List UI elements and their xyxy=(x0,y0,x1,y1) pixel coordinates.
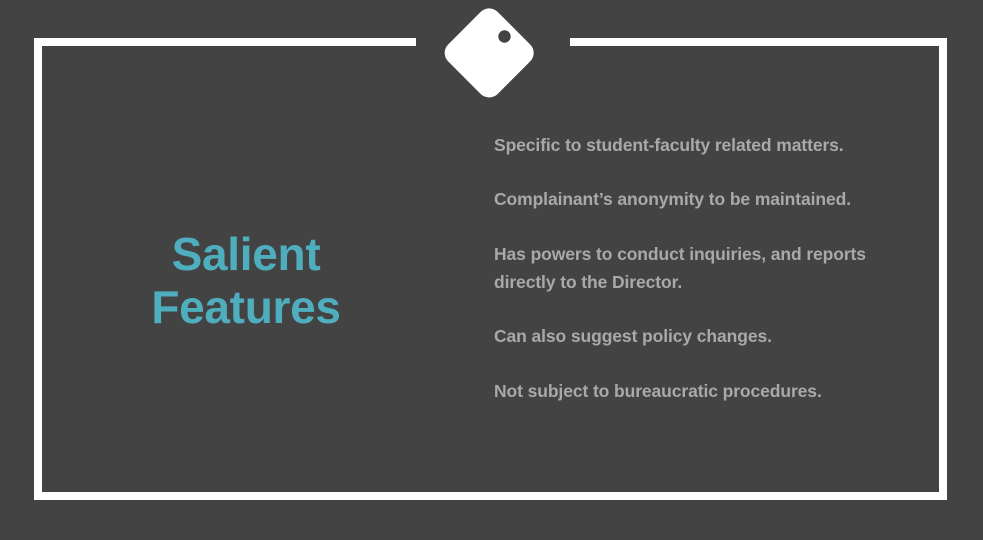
headline-line-1: Salient xyxy=(60,228,432,281)
frame-border-left xyxy=(34,38,42,500)
feature-item: Complainant’s anonymity to be maintained… xyxy=(494,185,926,213)
frame-border-bottom xyxy=(34,492,947,500)
feature-item: Can also suggest policy changes. xyxy=(494,322,926,350)
feature-item: Not subject to bureaucratic procedures. xyxy=(494,377,926,405)
feature-list: Specific to student-faculty related matt… xyxy=(494,131,926,405)
frame-border-top-left xyxy=(34,38,416,46)
frame-border-right xyxy=(939,38,947,500)
feature-item: Specific to student-faculty related matt… xyxy=(494,131,926,159)
slide-canvas: Salient Features Specific to student-fac… xyxy=(0,0,983,540)
frame-border-top-right xyxy=(570,38,947,46)
price-tag-icon xyxy=(440,8,544,112)
headline-line-2: Features xyxy=(60,281,432,334)
slide-headline: Salient Features xyxy=(60,228,432,335)
feature-item: Has powers to conduct inquiries, and rep… xyxy=(494,240,926,297)
